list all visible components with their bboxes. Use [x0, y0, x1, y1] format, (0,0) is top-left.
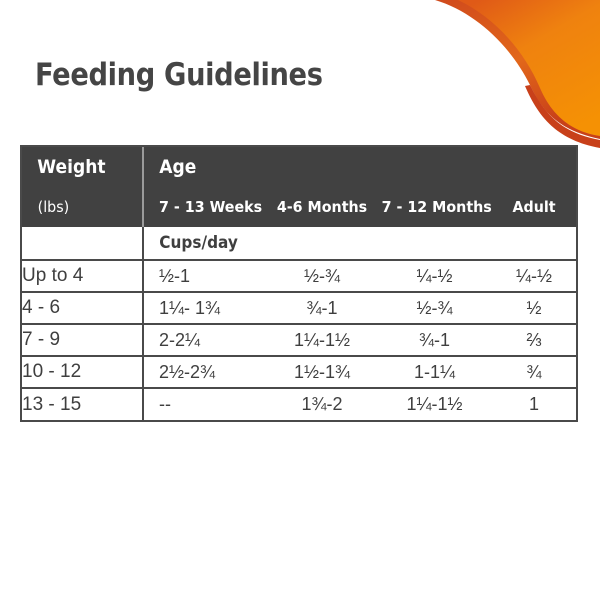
- units-row-weight-blank: [22, 227, 143, 260]
- row-4-value-3: 1: [492, 388, 576, 420]
- weight-header-cell: Weight: [22, 147, 143, 187]
- row-4-value-1: 1¾-2: [267, 388, 377, 420]
- age-subheader-label-1: 4-6 Months: [271, 198, 372, 216]
- table-row: 7 - 9 2-2¼ 1¼-1½ ¾-1 ⅔: [22, 324, 576, 356]
- row-weight-4: 13 - 15: [22, 388, 143, 420]
- row-3-value-2: 1-1¼: [377, 356, 492, 388]
- age-subheader-cell-1: 4-6 Months: [267, 187, 377, 227]
- row-3-value-0: 2½-2¾: [143, 356, 267, 388]
- row-4-value-0: --: [143, 388, 267, 420]
- units-row-label-cell: Cups/day: [143, 227, 576, 260]
- row-2-value-3: ⅔: [492, 324, 576, 356]
- units-row: Cups/day: [22, 227, 576, 260]
- row-2-value-0: 2-2¼: [143, 324, 267, 356]
- age-subheader-label-3: Adult: [495, 198, 572, 216]
- age-header-cell: Age: [143, 147, 576, 187]
- age-subheader-cell-3: Adult: [492, 187, 576, 227]
- row-1-value-0: 1¼- 1¾: [143, 292, 267, 324]
- units-row-label: Cups/day: [144, 233, 533, 253]
- age-subheader-cell-0: 7 - 13 Weeks: [143, 187, 267, 227]
- row-1-value-2: ½-¾: [377, 292, 492, 324]
- table-row: Up to 4 ½-1 ½-¾ ¼-½ ¼-½: [22, 260, 576, 292]
- weight-unit-cell: (lbs): [22, 187, 143, 227]
- row-weight-3: 10 - 12: [22, 356, 143, 388]
- row-2-value-1: 1¼-1½: [267, 324, 377, 356]
- row-weight-1: 4 - 6: [22, 292, 143, 324]
- row-0-value-1: ½-¾: [267, 260, 377, 292]
- table-row: 13 - 15 -- 1¾-2 1¼-1½ 1: [22, 388, 576, 420]
- row-3-value-1: 1½-1¾: [267, 356, 377, 388]
- row-0-value-2: ¼-½: [377, 260, 492, 292]
- table-row: 4 - 6 1¼- 1¾ ¾-1 ½-¾ ½: [22, 292, 576, 324]
- age-subheader-label-2: 7 - 12 Months: [382, 198, 488, 216]
- table-row: 10 - 12 2½-2¾ 1½-1¾ 1-1¼ ¾: [22, 356, 576, 388]
- age-header-label: Age: [144, 156, 533, 178]
- row-weight-0: Up to 4: [22, 260, 143, 292]
- row-3-value-3: ¾: [492, 356, 576, 388]
- page-title: Feeding Guidelines: [35, 57, 323, 93]
- row-weight-2: 7 - 9: [22, 324, 143, 356]
- table-header-main-row: Weight Age: [22, 147, 576, 187]
- row-0-value-3: ¼-½: [492, 260, 576, 292]
- row-1-value-1: ¾-1: [267, 292, 377, 324]
- orange-swoosh: [380, 0, 600, 160]
- row-4-value-2: 1¼-1½: [377, 388, 492, 420]
- row-2-value-2: ¾-1: [377, 324, 492, 356]
- age-subheader-cell-2: 7 - 12 Months: [377, 187, 492, 227]
- row-1-value-3: ½: [492, 292, 576, 324]
- table-header-sub-row: (lbs) 7 - 13 Weeks 4-6 Months 7 - 12 Mon…: [22, 187, 576, 227]
- weight-header-label: Weight: [22, 156, 130, 178]
- weight-unit-label: (lbs): [22, 198, 132, 216]
- row-0-value-0: ½-1: [143, 260, 267, 292]
- feeding-guidelines-table: Weight Age (lbs) 7 - 13 Weeks 4-6 Months: [20, 145, 578, 422]
- age-subheader-label-0: 7 - 13 Weeks: [159, 198, 258, 216]
